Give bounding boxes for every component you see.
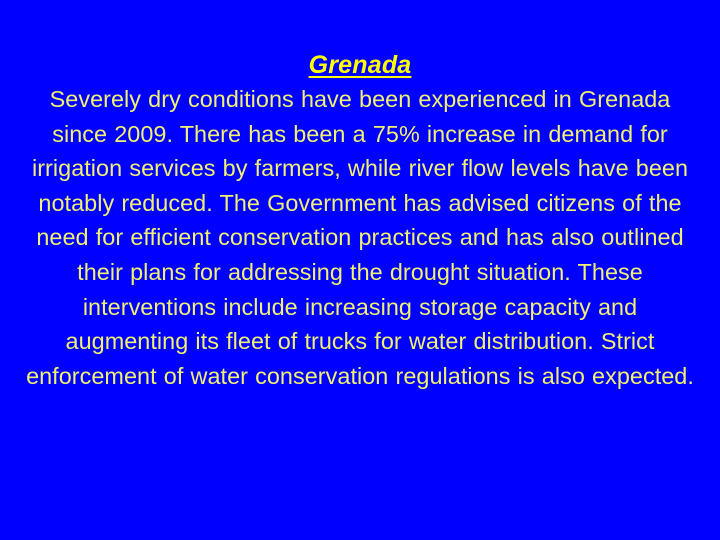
presentation-slide: Grenada Severely dry conditions have bee… — [0, 0, 720, 540]
slide-text-block: Grenada Severely dry conditions have bee… — [14, 48, 706, 393]
slide-body-text: Severely dry conditions have been experi… — [14, 82, 706, 393]
slide-title: Grenada — [14, 48, 706, 82]
